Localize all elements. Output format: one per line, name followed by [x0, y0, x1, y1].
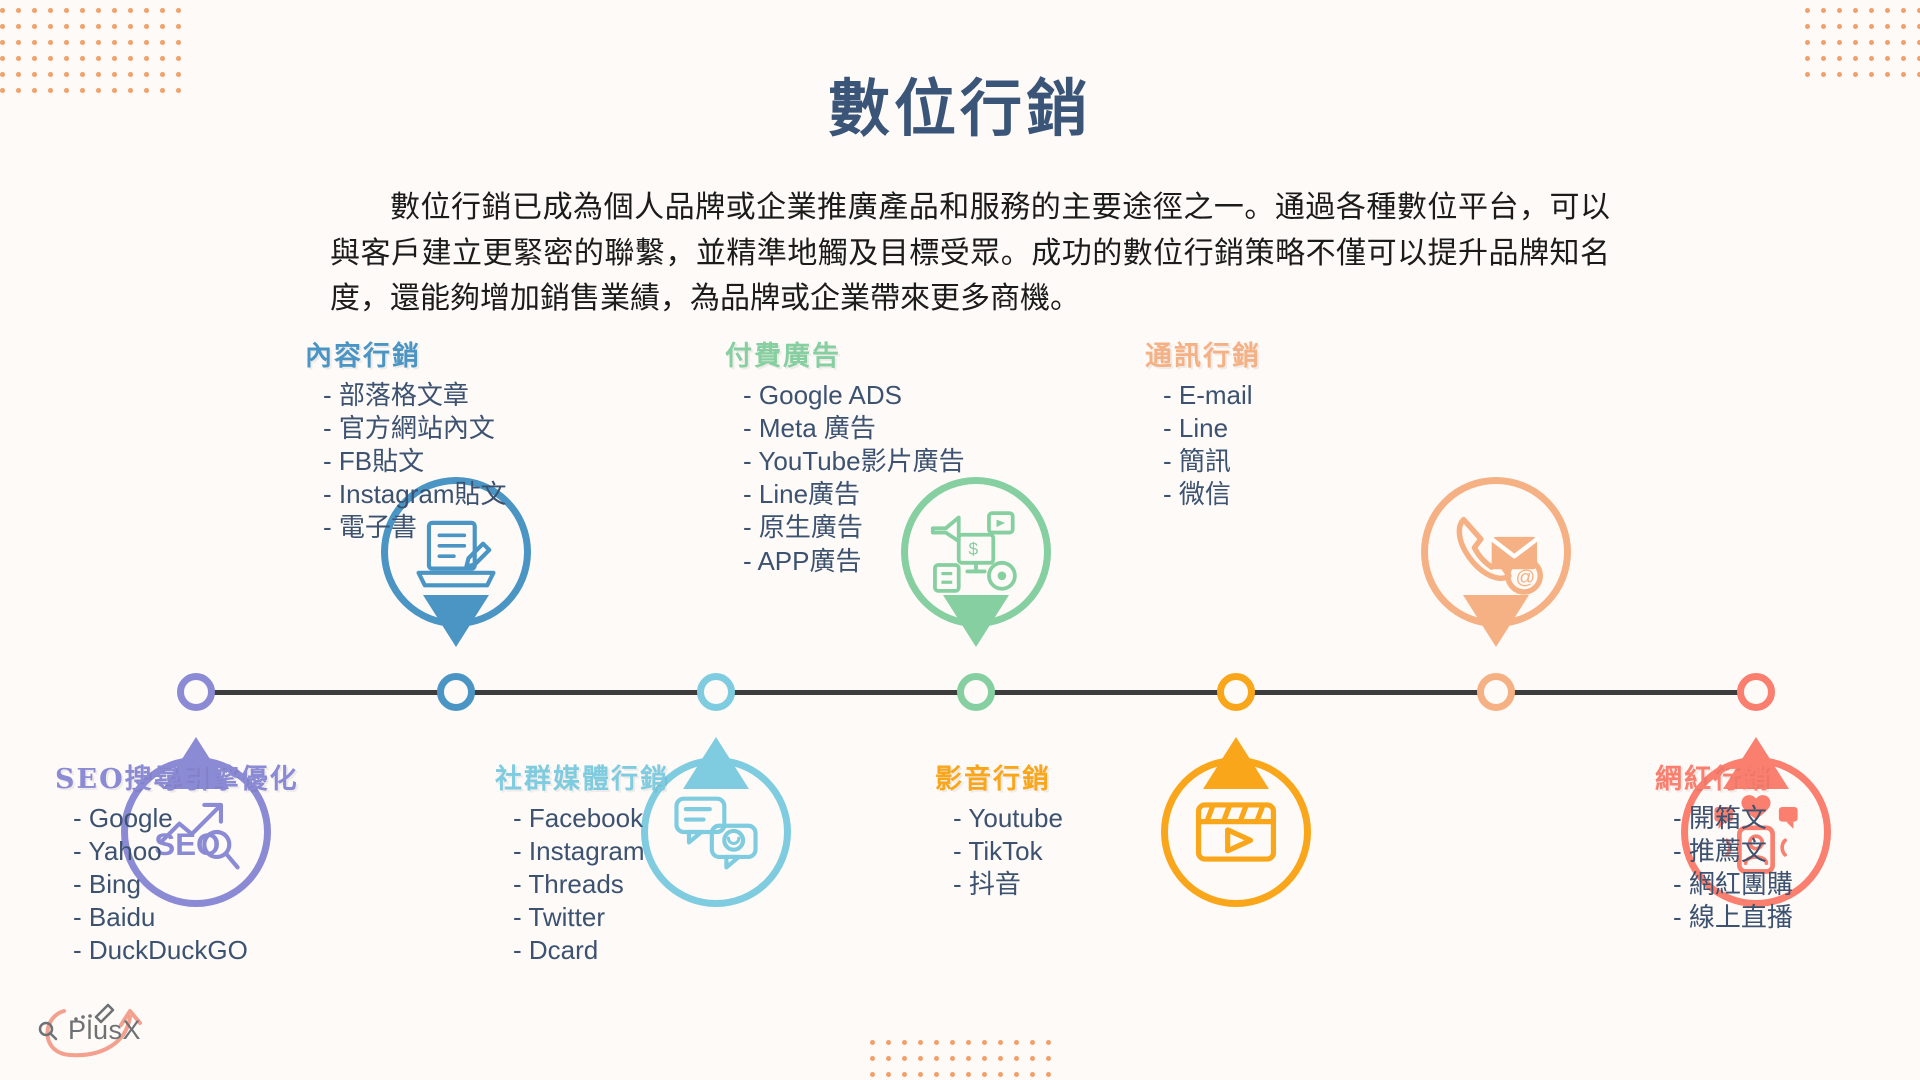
- timeline-node-messaging[interactable]: [1477, 673, 1515, 711]
- list-item: Meta 廣告: [743, 412, 965, 445]
- block-seo: SEO搜尋引擎優化GoogleYahooBingBaiduDuckDuckGO: [55, 757, 299, 968]
- list-item: 微信: [1163, 478, 1261, 511]
- timeline-node-influencer[interactable]: [1737, 673, 1775, 711]
- block-list-social: FacebookInstagramThreadsTwitterDcard: [495, 802, 669, 968]
- list-item: Dcard: [513, 934, 669, 967]
- list-item: E-mail: [1163, 379, 1261, 412]
- list-item: Line廣告: [743, 478, 965, 511]
- block-messaging: 通訊行銷E-mailLine簡訊微信: [1145, 334, 1261, 511]
- list-item: Instagram: [513, 835, 669, 868]
- block-paid: 付費廣告Google ADSMeta 廣告YouTube影片廣告Line廣告原生…: [725, 334, 965, 578]
- chat-bubbles-icon: [664, 780, 768, 884]
- list-item: 抖音: [953, 868, 1063, 901]
- block-heading-seo: SEO搜尋引擎優化: [55, 757, 299, 796]
- svg-text:$: $: [968, 539, 978, 559]
- timeline-node-social[interactable]: [697, 673, 735, 711]
- list-item: Yahoo: [73, 835, 299, 868]
- block-heading-video: 影音行銷: [935, 757, 1063, 796]
- marker-pin-messaging[interactable]: @: [1421, 477, 1571, 627]
- list-item: APP廣告: [743, 545, 965, 578]
- list-item: 開箱文: [1673, 802, 1793, 835]
- list-item: Instagram貼文: [323, 478, 507, 511]
- block-heading-content: 內容行銷: [305, 334, 507, 373]
- list-item: Baidu: [73, 901, 299, 934]
- block-influencer: 網紅行銷開箱文推薦文網紅團購線上直播: [1655, 757, 1793, 934]
- phone-envelope-icon: @: [1442, 498, 1550, 606]
- list-item: Google: [73, 802, 299, 835]
- block-heading-paid: 付費廣告: [725, 334, 965, 373]
- block-list-influencer: 開箱文推薦文網紅團購線上直播: [1655, 802, 1793, 934]
- block-list-content: 部落格文章官方網站內文FB貼文Instagram貼文電子書: [305, 379, 507, 545]
- block-heading-messaging: 通訊行銷: [1145, 334, 1261, 373]
- timeline-node-video[interactable]: [1217, 673, 1255, 711]
- list-item: 網紅團購: [1673, 868, 1793, 901]
- video-play-icon: [1184, 780, 1288, 884]
- page-title: 數位行銷: [0, 58, 1920, 148]
- block-list-paid: Google ADSMeta 廣告YouTube影片廣告Line廣告原生廣告AP…: [725, 379, 965, 578]
- block-video: 影音行銷YoutubeTikTok抖音: [935, 757, 1063, 901]
- list-item: Google ADS: [743, 379, 965, 412]
- block-content: 內容行銷部落格文章官方網站內文FB貼文Instagram貼文電子書: [305, 334, 507, 545]
- list-item: FB貼文: [323, 445, 507, 478]
- list-item: 原生廣告: [743, 511, 965, 544]
- infographic-canvas: 數位行銷 數位行銷已成為個人品牌或企業推廣產品和服務的主要途徑之一。通過各種數位…: [0, 0, 1920, 1080]
- list-item: DuckDuckGO: [73, 934, 299, 967]
- list-item: 簡訊: [1163, 445, 1261, 478]
- block-list-messaging: E-mailLine簡訊微信: [1145, 379, 1261, 511]
- list-item: Youtube: [953, 802, 1063, 835]
- list-item: Line: [1163, 412, 1261, 445]
- list-item: 線上直播: [1673, 901, 1793, 934]
- list-item: 推薦文: [1673, 835, 1793, 868]
- block-heading-social: 社群媒體行銷: [495, 757, 669, 796]
- intro-paragraph: 數位行銷已成為個人品牌或企業推廣產品和服務的主要途徑之一。通過各種數位平台，可以…: [330, 185, 1610, 322]
- block-heading-influencer: 網紅行銷: [1655, 757, 1793, 796]
- list-item: Threads: [513, 868, 669, 901]
- list-item: Facebook: [513, 802, 669, 835]
- timeline-node-paid[interactable]: [957, 673, 995, 711]
- marker-glyph: @: [1421, 477, 1571, 627]
- list-item: 部落格文章: [323, 379, 507, 412]
- list-item: 官方網站內文: [323, 412, 507, 445]
- block-list-video: YoutubeTikTok抖音: [935, 802, 1063, 901]
- block-list-seo: GoogleYahooBingBaiduDuckDuckGO: [55, 802, 299, 968]
- svg-text:@: @: [1515, 566, 1535, 588]
- plusx-logo: PlusX: [22, 995, 172, 1065]
- logo-text: PlusX: [68, 1015, 141, 1046]
- timeline-node-seo[interactable]: [177, 673, 215, 711]
- list-item: TikTok: [953, 835, 1063, 868]
- list-item: Twitter: [513, 901, 669, 934]
- list-item: 電子書: [323, 511, 507, 544]
- list-item: Bing: [73, 868, 299, 901]
- list-item: YouTube影片廣告: [743, 445, 965, 478]
- marker-glyph: [1161, 757, 1311, 907]
- timeline-node-content[interactable]: [437, 673, 475, 711]
- marker-pin-video[interactable]: [1161, 757, 1311, 907]
- block-social: 社群媒體行銷FacebookInstagramThreadsTwitterDca…: [495, 757, 669, 968]
